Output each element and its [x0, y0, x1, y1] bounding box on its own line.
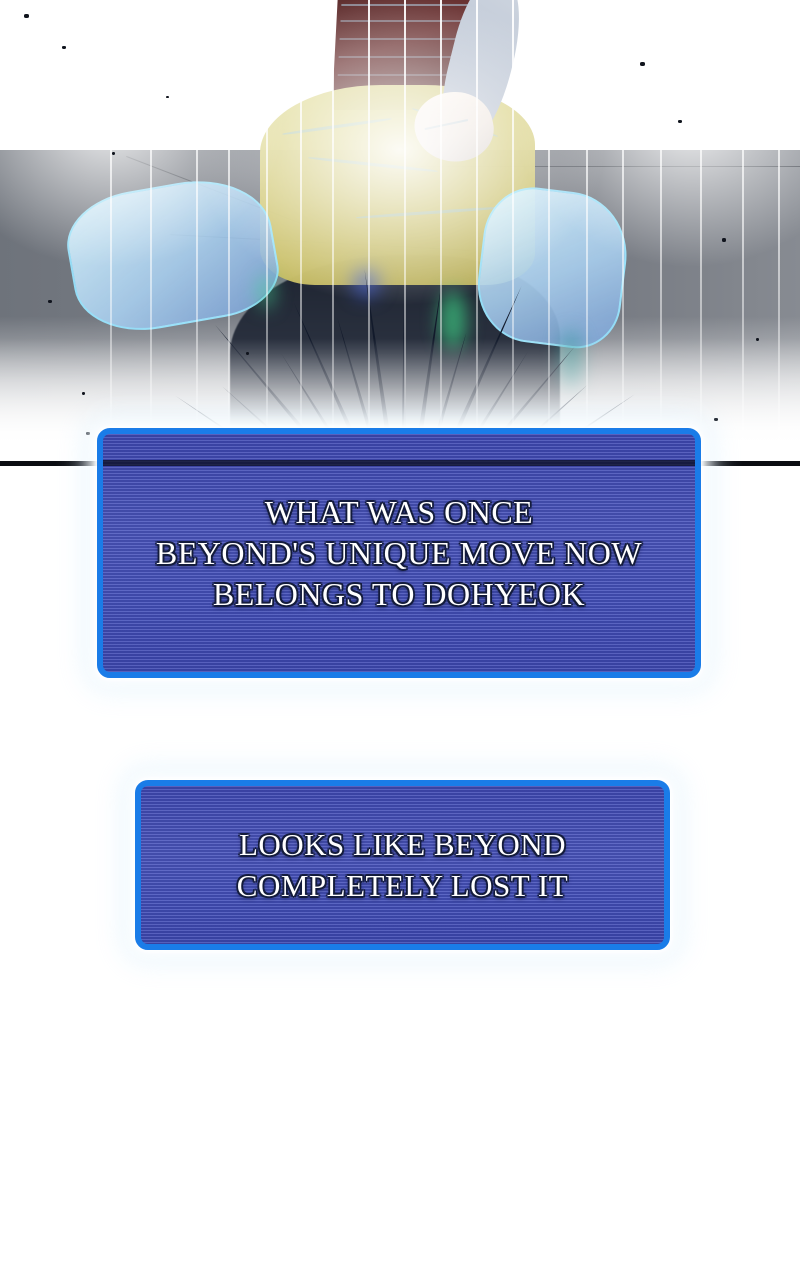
speech-line: BELONGS TO DOHYEOK [103, 574, 695, 615]
webtoon-page: WHAT WAS ONCE BEYOND'S UNIQUE MOVE NOW B… [0, 0, 800, 1280]
ink-speck [640, 62, 645, 66]
speech-bubble-secondary-text: LOOKS LIKE BEYOND COMPLETELY LOST IT [141, 824, 664, 906]
speech-line: BEYOND'S UNIQUE MOVE NOW [103, 533, 695, 574]
artwork-panel [0, 0, 800, 470]
ink-speck [246, 352, 249, 355]
speech-bubble-primary[interactable]: WHAT WAS ONCE BEYOND'S UNIQUE MOVE NOW B… [97, 428, 701, 678]
ink-speck [166, 96, 169, 98]
speech-line: COMPLETELY LOST IT [141, 865, 664, 906]
speech-line: LOOKS LIKE BEYOND [141, 824, 664, 865]
ink-speck [722, 238, 726, 242]
ink-speck [678, 120, 682, 123]
ink-speck [24, 14, 29, 18]
divider-crossband [103, 460, 695, 466]
ink-speck [86, 432, 90, 435]
blue-glow-1 [352, 268, 380, 298]
green-glow-1 [440, 290, 466, 350]
teal-glow-1 [560, 330, 582, 390]
green-glow-2 [258, 275, 274, 309]
speech-line: WHAT WAS ONCE [103, 492, 695, 533]
speech-bubble-primary-text: WHAT WAS ONCE BEYOND'S UNIQUE MOVE NOW B… [103, 492, 695, 615]
ink-speck [82, 392, 85, 395]
speech-bubble-secondary[interactable]: LOOKS LIKE BEYOND COMPLETELY LOST IT [135, 780, 670, 950]
ink-speck [62, 46, 66, 49]
ink-speck [756, 338, 759, 341]
ink-speck [714, 418, 718, 421]
ink-speck [112, 152, 115, 155]
ink-speck [48, 300, 52, 303]
